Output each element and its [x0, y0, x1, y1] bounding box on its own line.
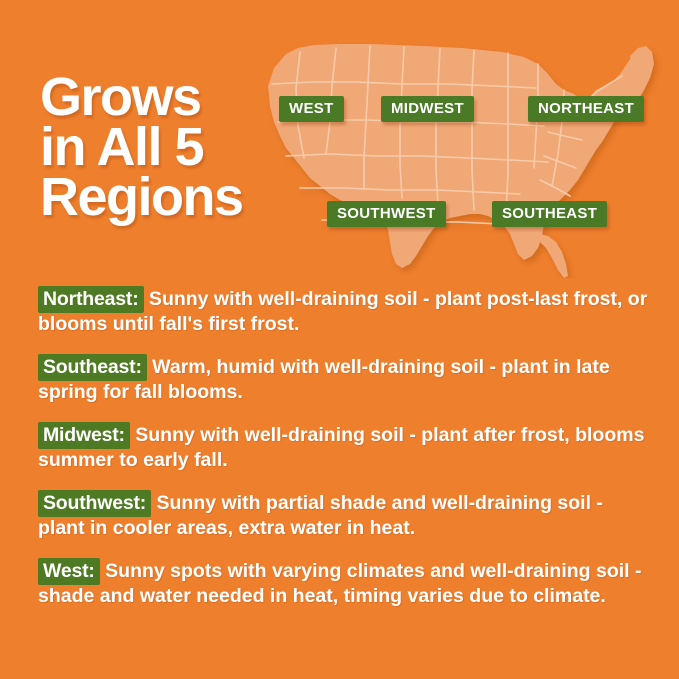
- region-name-southeast: Southeast:: [38, 354, 147, 381]
- infographic-root: Grows in All 5 Regions: [0, 0, 679, 679]
- region-paragraph: Midwest: Sunny with well-draining soil -…: [38, 423, 650, 473]
- region-name-northeast: Northeast:: [38, 286, 144, 313]
- map-landmass: [268, 44, 654, 268]
- region-description-midwest: Sunny with well-draining soil - plant af…: [38, 424, 644, 471]
- region-item-southwest: Southwest: Sunny with partial shade and …: [38, 491, 650, 541]
- region-list: Northeast: Sunny with well-draining soil…: [38, 287, 650, 609]
- region-item-northeast: Northeast: Sunny with well-draining soil…: [38, 287, 650, 337]
- headline-line-3: Regions: [40, 172, 290, 222]
- region-name-west: West:: [38, 558, 100, 585]
- map-badge-southwest[interactable]: SOUTHWEST: [327, 201, 446, 227]
- region-paragraph: Northeast: Sunny with well-draining soil…: [38, 287, 650, 337]
- page-title: Grows in All 5 Regions: [40, 72, 290, 222]
- map-florida: [540, 234, 568, 278]
- region-item-southeast: Southeast: Warm, humid with well-drainin…: [38, 355, 650, 405]
- region-name-southwest: Southwest:: [38, 490, 151, 517]
- map-badge-midwest[interactable]: MIDWEST: [381, 96, 474, 122]
- united-states-map: [252, 38, 662, 278]
- region-description-west: Sunny spots with varying climates and we…: [38, 560, 642, 607]
- region-paragraph: Southeast: Warm, humid with well-drainin…: [38, 355, 650, 405]
- region-item-midwest: Midwest: Sunny with well-draining soil -…: [38, 423, 650, 473]
- map-badge-southeast[interactable]: SOUTHEAST: [492, 201, 607, 227]
- region-paragraph: West: Sunny spots with varying climates …: [38, 559, 650, 609]
- region-paragraph: Southwest: Sunny with partial shade and …: [38, 491, 650, 541]
- headline-line-1: Grows: [40, 72, 290, 122]
- map-badge-northeast[interactable]: NORTHEAST: [528, 96, 644, 122]
- region-item-west: West: Sunny spots with varying climates …: [38, 559, 650, 609]
- headline-line-2: in All 5: [40, 122, 290, 172]
- region-name-midwest: Midwest:: [38, 422, 130, 449]
